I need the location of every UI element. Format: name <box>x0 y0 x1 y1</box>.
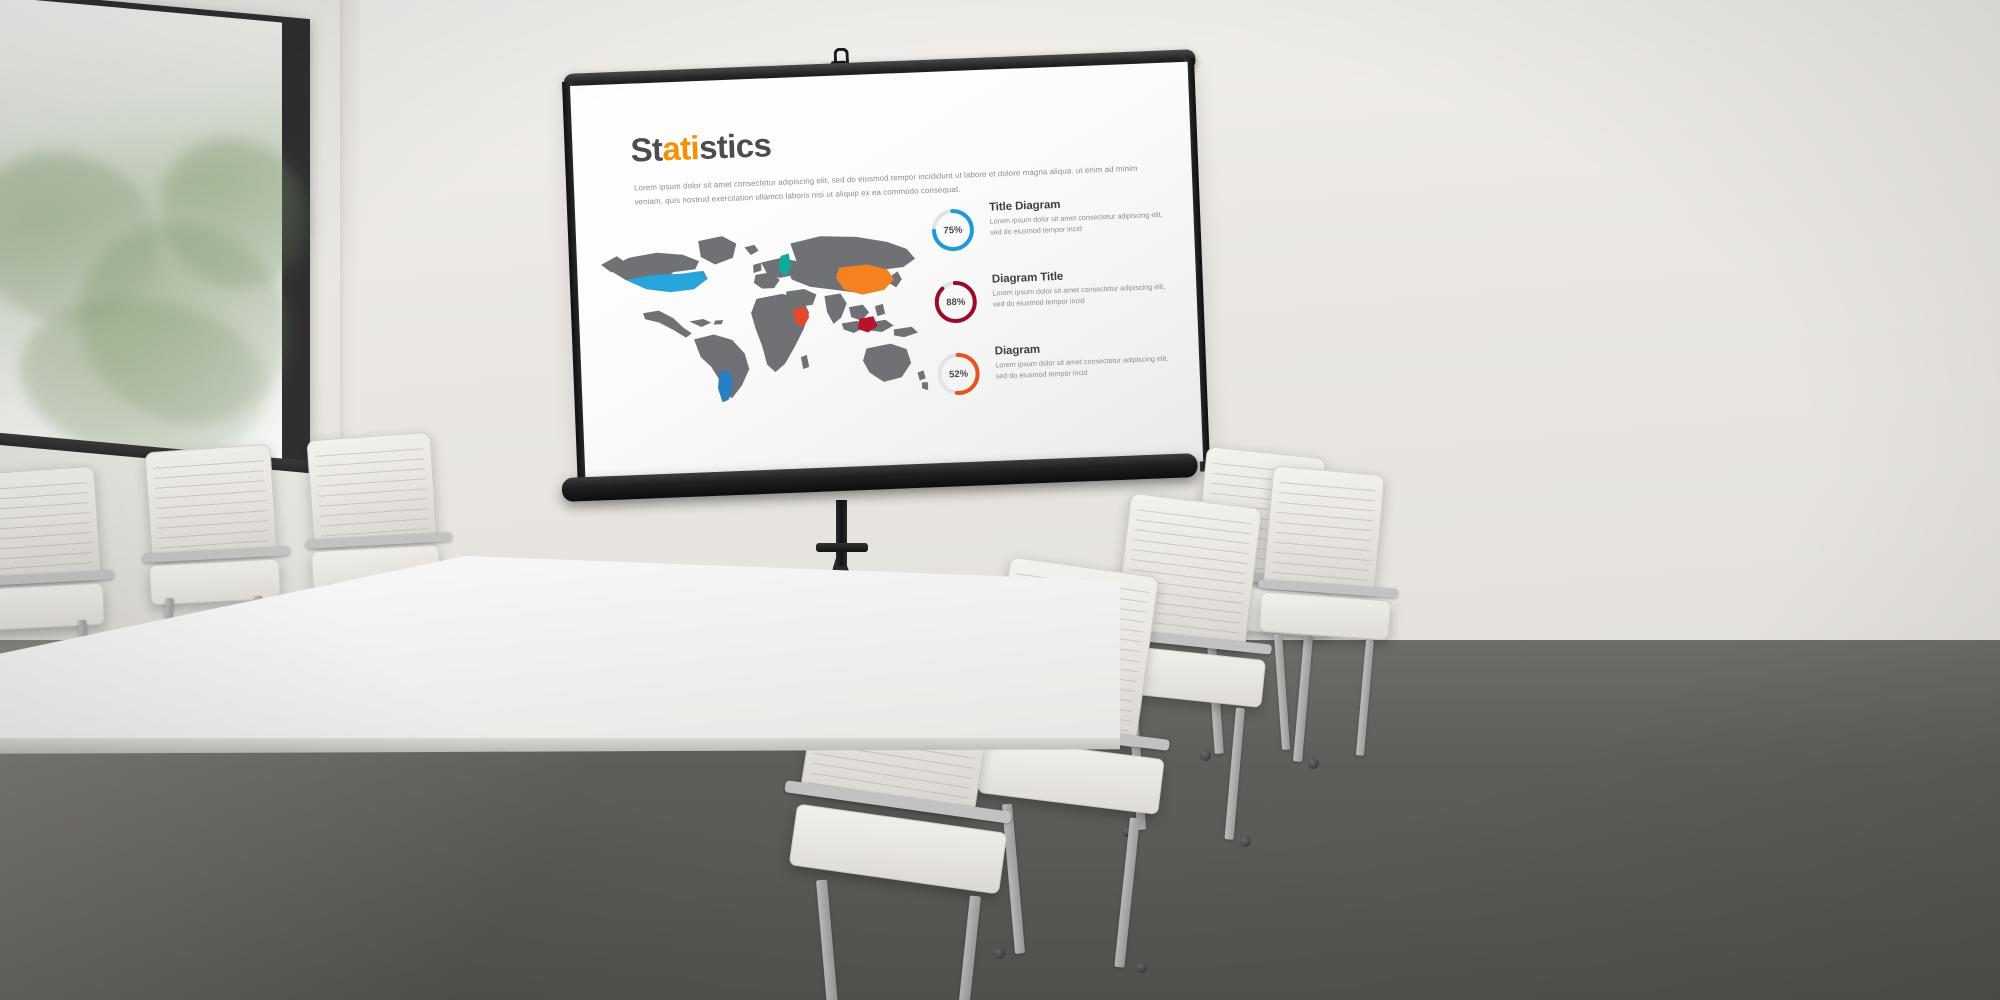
projector-screen-unit: Statistics Lorem ipsum dolor sit amet co… <box>548 38 1208 538</box>
chair-backrest <box>144 444 277 561</box>
chair-leg <box>816 880 838 1000</box>
statistics-list: 75% Title Diagram Lorem ipsum dolor sit … <box>927 195 1175 420</box>
title-part-1: St <box>630 130 663 168</box>
chair-backrest <box>0 466 102 585</box>
donut-value-3: 52% <box>933 348 985 400</box>
page-title: Statistics <box>630 126 772 169</box>
donut-value-1: 75% <box>927 204 979 256</box>
conference-room: Statistics Lorem ipsum dolor sit amet co… <box>0 0 2000 1000</box>
chair-leg <box>1225 708 1245 840</box>
stat-text-block: Title Diagram Lorem ipsum dolor sit amet… <box>989 195 1168 238</box>
slide: Statistics Lorem ipsum dolor sit amet co… <box>570 62 1203 486</box>
screen-stand-bracket <box>816 543 868 552</box>
window-glass <box>0 0 282 463</box>
world-map <box>593 212 931 425</box>
stat-text-block: Diagram Title Lorem ipsum dolor sit amet… <box>992 267 1171 310</box>
title-highlight: ati <box>662 129 700 167</box>
title-part-2: stics <box>698 126 772 166</box>
donut-chart-3: 52% <box>933 348 985 400</box>
projection-surface: Statistics Lorem ipsum dolor sit amet co… <box>570 62 1203 486</box>
donut-chart-1: 75% <box>927 204 979 256</box>
donut-value-2: 88% <box>930 276 982 328</box>
stat-row[interactable]: 52% Diagram Lorem ipsum dolor sit amet c… <box>933 339 1175 408</box>
stat-text-block: Diagram Lorem ipsum dolor sit amet conse… <box>995 339 1174 382</box>
donut-chart-2: 88% <box>930 276 982 328</box>
chair-caster <box>1136 962 1147 973</box>
chair-leg <box>957 895 980 1000</box>
chair-leg <box>1274 634 1290 750</box>
chair-backrest <box>306 432 437 546</box>
chair-leg <box>1356 640 1374 756</box>
stat-desc-2: Lorem ipsum dolor sit amet consectetur a… <box>992 282 1171 310</box>
chair-right-5 <box>1260 470 1410 770</box>
stat-row[interactable]: 88% Diagram Title Lorem ipsum dolor sit … <box>930 267 1172 336</box>
stat-row[interactable]: 75% Title Diagram Lorem ipsum dolor sit … <box>927 195 1169 264</box>
stat-desc-1: Lorem ipsum dolor sit amet consectetur a… <box>989 210 1168 238</box>
chair-backrest <box>1263 465 1385 594</box>
chair-caster <box>1240 836 1251 847</box>
screen-stand-post <box>836 500 847 566</box>
stat-desc-3: Lorem ipsum dolor sit amet consectetur a… <box>995 354 1174 382</box>
chair-seat <box>0 583 105 632</box>
window-frame <box>0 0 310 489</box>
chair-leg <box>1114 817 1140 967</box>
